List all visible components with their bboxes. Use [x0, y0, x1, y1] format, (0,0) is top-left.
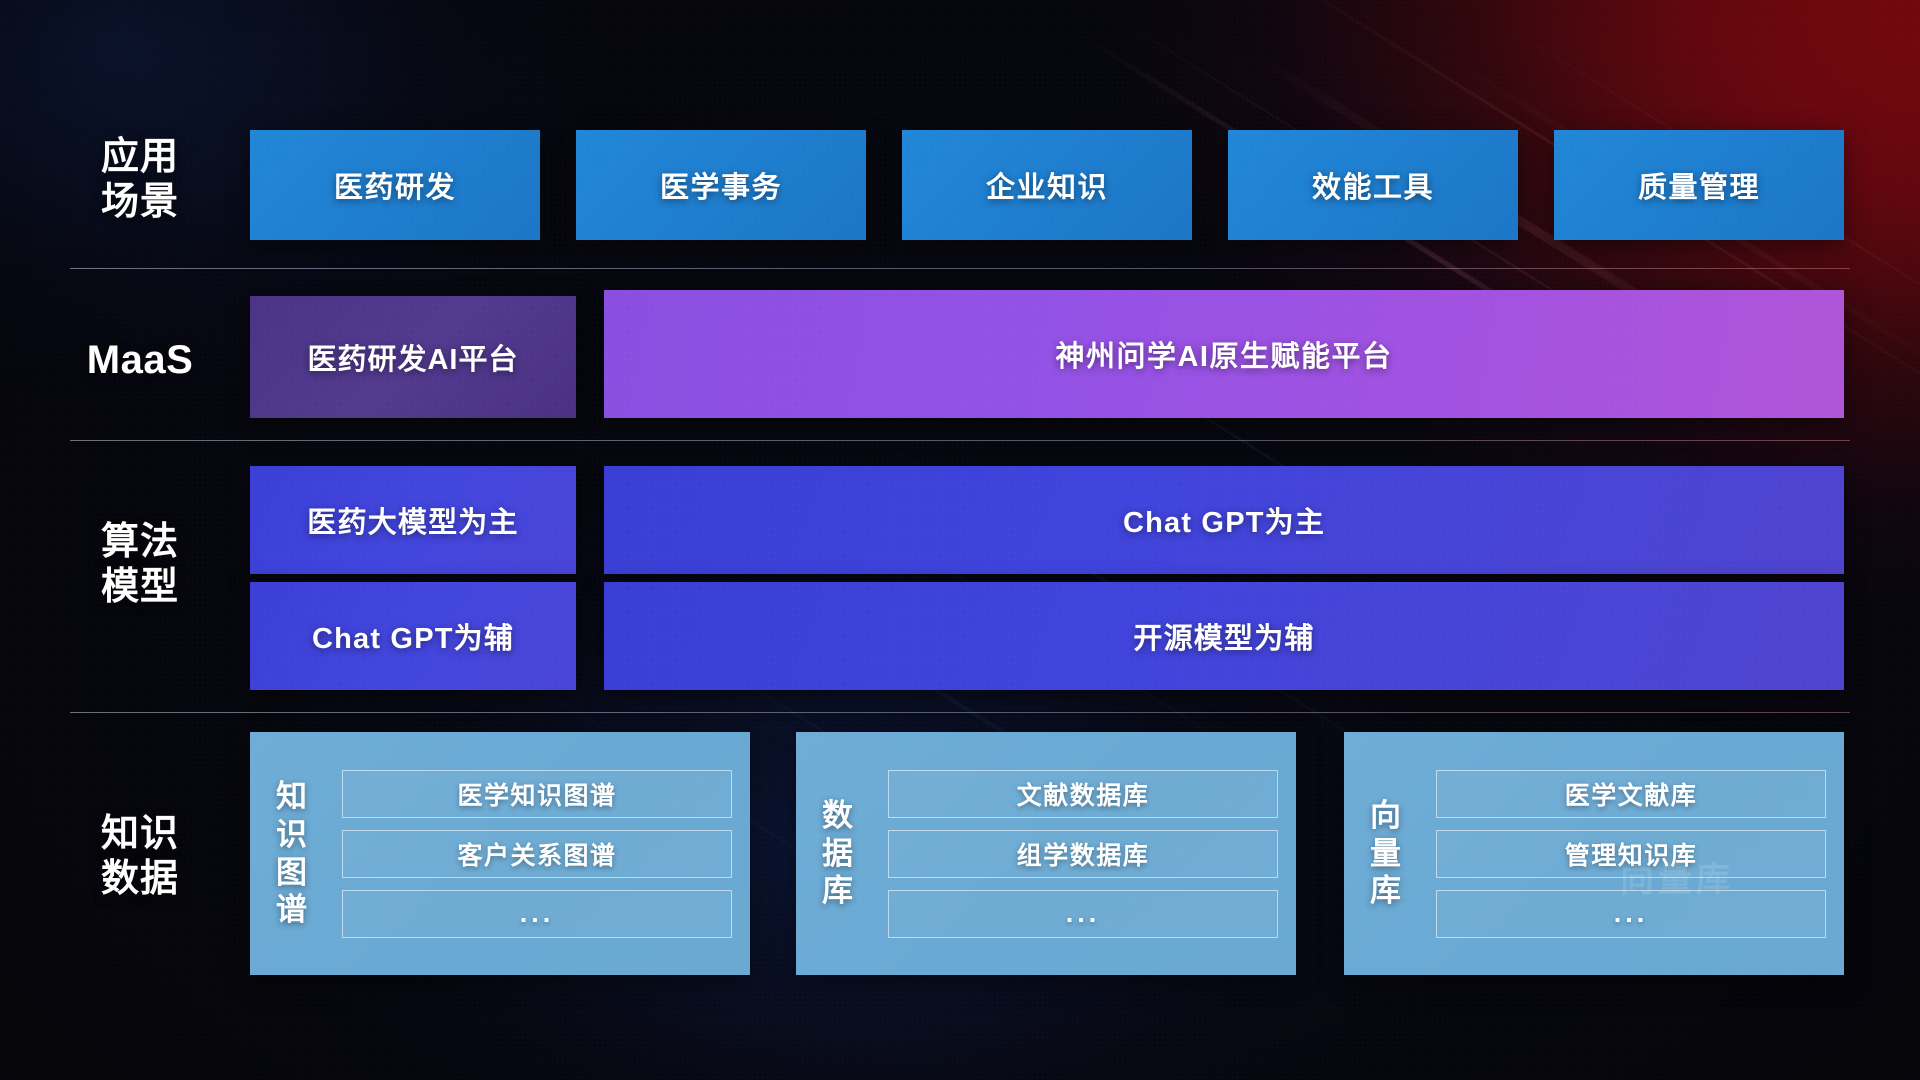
app-box-4[interactable]: 质量管理: [1554, 130, 1844, 240]
knowledge-group-title: 数据库: [796, 732, 882, 975]
knowledge-group-title: 向量库: [1344, 732, 1430, 975]
knowledge-item[interactable]: 文献数据库: [888, 770, 1278, 818]
algo-box-row1-right[interactable]: 开源模型为辅: [604, 582, 1844, 690]
app-box-label: 质量管理: [1638, 164, 1760, 206]
divider-algorithm-knowledge: [70, 712, 1850, 713]
knowledge-group-items: 医学文献库 管理知识库 ...: [1430, 732, 1844, 975]
knowledge-group-1[interactable]: 数据库 文献数据库 组学数据库 ...: [796, 732, 1296, 975]
app-box-label: 效能工具: [1312, 164, 1434, 206]
algo-box-row1-left[interactable]: Chat GPT为辅: [250, 582, 576, 690]
algo-box-row0-left[interactable]: 医药大模型为主: [250, 466, 576, 574]
knowledge-item[interactable]: 医学文献库: [1436, 770, 1826, 818]
app-box-3[interactable]: 效能工具: [1228, 130, 1518, 240]
app-box-label: 医学事务: [660, 164, 782, 206]
row-label-knowledge: 知识数据: [70, 812, 210, 902]
app-box-label: 企业知识: [986, 164, 1108, 206]
knowledge-item[interactable]: 管理知识库: [1436, 830, 1826, 878]
row-label-application: 应用场景: [70, 135, 210, 225]
maas-right-box[interactable]: 神州问学AI原生赋能平台: [604, 290, 1844, 418]
knowledge-item[interactable]: 客户关系图谱: [342, 830, 732, 878]
architecture-diagram: 应用场景 医药研发 医学事务 企业知识 效能工具 质量管理 MaaS 医药研发A…: [0, 0, 1920, 1080]
maas-right-label: 神州问学AI原生赋能平台: [1055, 333, 1392, 375]
knowledge-group-title: 知识图谱: [250, 732, 336, 975]
algo-box-row0-right[interactable]: Chat GPT为主: [604, 466, 1844, 574]
algo-box-label: Chat GPT为辅: [312, 615, 514, 657]
row-label-algorithm: 算法模型: [70, 520, 210, 610]
knowledge-group-0[interactable]: 知识图谱 医学知识图谱 客户关系图谱 ...: [250, 732, 750, 975]
knowledge-item[interactable]: 医学知识图谱: [342, 770, 732, 818]
divider-application-maas: [70, 268, 1850, 269]
knowledge-group-items: 文献数据库 组学数据库 ...: [882, 732, 1296, 975]
row-label-maas: MaaS: [70, 337, 210, 384]
knowledge-group-items: 医学知识图谱 客户关系图谱 ...: [336, 732, 750, 975]
algo-box-label: Chat GPT为主: [1123, 499, 1325, 541]
algo-box-label: 医药大模型为主: [307, 499, 518, 541]
maas-left-label: 医药研发AI平台: [307, 336, 518, 378]
maas-left-box[interactable]: 医药研发AI平台: [250, 296, 576, 418]
app-box-label: 医药研发: [334, 164, 456, 206]
knowledge-item[interactable]: 组学数据库: [888, 830, 1278, 878]
knowledge-item-more[interactable]: ...: [1436, 890, 1826, 938]
divider-maas-algorithm: [70, 440, 1850, 441]
knowledge-item-more[interactable]: ...: [342, 890, 732, 938]
algo-box-label: 开源模型为辅: [1133, 615, 1314, 657]
app-box-1[interactable]: 医学事务: [576, 130, 866, 240]
knowledge-group-2[interactable]: 向量库 向量库 医学文献库 管理知识库 ...: [1344, 732, 1844, 975]
app-box-2[interactable]: 企业知识: [902, 130, 1192, 240]
app-box-0[interactable]: 医药研发: [250, 130, 540, 240]
knowledge-item-more[interactable]: ...: [888, 890, 1278, 938]
